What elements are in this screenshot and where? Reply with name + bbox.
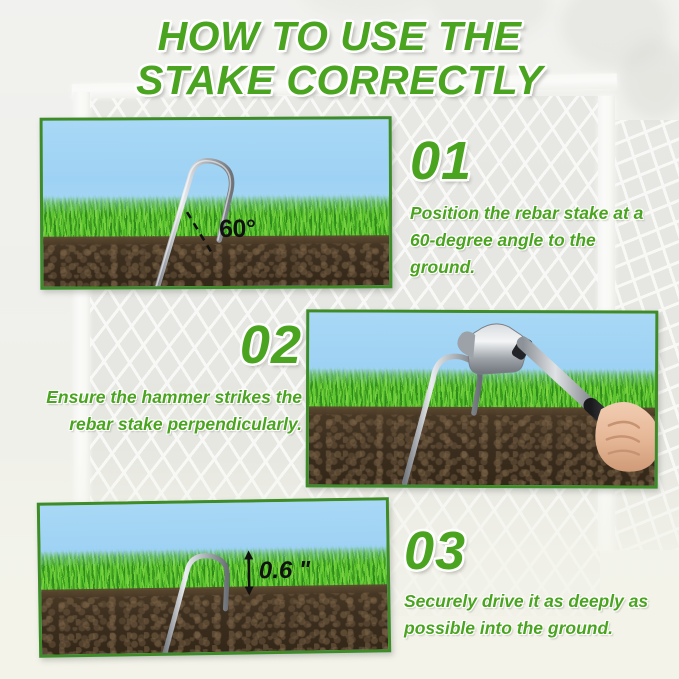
step-text-3: Securely drive it as deeply as possible … — [404, 588, 666, 642]
page-title-line-2: STAKE CORRECTLY — [0, 60, 679, 102]
photo-panel-step-2 — [306, 309, 659, 488]
step-block-2: 02 Ensure the hammer strikes the rebar s… — [20, 318, 302, 438]
step-block-3: 03 Securely drive it as deeply as possib… — [404, 524, 666, 642]
step-block-1: 01 Position the rebar stake at a 60-degr… — [410, 134, 660, 281]
scene-step-1: 60° — [43, 119, 390, 287]
step-number-1: 01 — [410, 134, 660, 188]
step-number-2: 02 — [20, 318, 302, 372]
infographic-page: HOW TO USE THE STAKE CORRECTLY — [0, 0, 679, 679]
step-text-1: Position the rebar stake at a 60-degree … — [410, 200, 660, 281]
photo-panel-step-3: 0.6 " — [37, 497, 391, 658]
page-title-line-1: HOW TO USE THE — [0, 16, 679, 58]
depth-measure-arrow — [40, 500, 388, 654]
scene-step-2 — [309, 312, 656, 485]
depth-annotation-label: 0.6 " — [259, 556, 311, 585]
claw-hammer — [309, 312, 656, 485]
angle-dashed-indicator — [43, 119, 390, 287]
step-text-2: Ensure the hammer strikes the rebar stak… — [20, 384, 302, 438]
scene-step-3: 0.6 " — [40, 500, 388, 654]
page-title: HOW TO USE THE STAKE CORRECTLY — [0, 16, 679, 102]
photo-panel-step-1: 60° — [40, 116, 393, 290]
step-number-3: 03 — [404, 524, 666, 578]
angle-annotation-label: 60° — [219, 215, 255, 244]
